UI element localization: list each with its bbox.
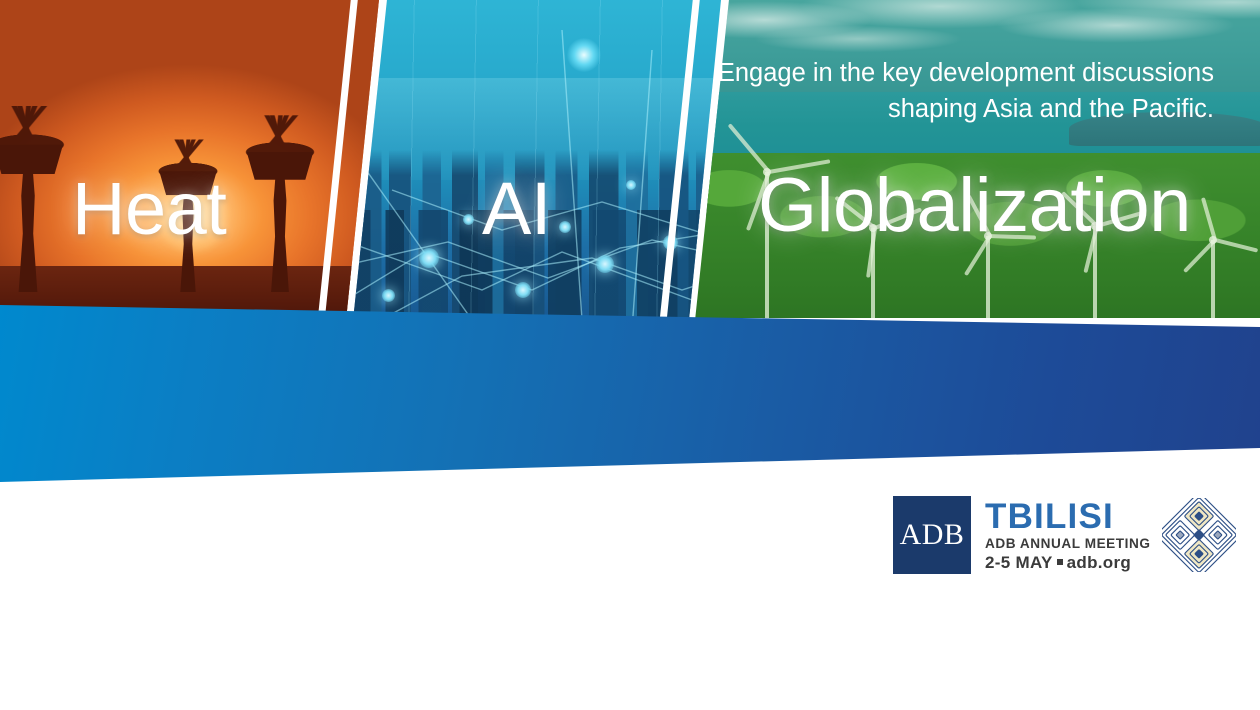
adb-tbilisi-logo[interactable]: ADB TBILISI ADB ANNUAL MEETING 2-5 MAYad…: [893, 489, 1213, 581]
turbine-mast: [1211, 240, 1215, 318]
logo-dates: 2-5 MAY: [985, 553, 1053, 572]
adb-logo-text: ADB: [900, 520, 965, 550]
logo-subtitle: ADB ANNUAL MEETING: [985, 537, 1150, 551]
adb-logo-mark: ADB: [893, 496, 971, 574]
straw-bundle-icon: [0, 106, 86, 150]
hero-panel-globalization[interactable]: [694, 0, 1260, 318]
logo-wordmark: TBILISI ADB ANNUAL MEETING 2-5 MAYadb.or…: [985, 499, 1150, 572]
panel-title-ai: AI: [482, 166, 551, 251]
globalization-panel-art: [694, 0, 1260, 318]
georgian-diamond-ornament-icon: [1162, 498, 1236, 572]
turbine-hub: [1209, 236, 1217, 244]
network-node: [419, 248, 439, 268]
separator-square-icon: [1057, 559, 1063, 565]
tagline-band: [0, 290, 1260, 500]
logo-website: adb.org: [1067, 553, 1131, 572]
tagline: Engage in the key development discussion…: [554, 55, 1214, 127]
network-node: [382, 289, 395, 302]
hero-strip: Heat AI Globalization: [0, 0, 1260, 318]
straw-bundle-icon: [225, 115, 335, 157]
banner-root: Heat AI Globalization Engage in the key …: [0, 0, 1260, 710]
tagline-line-2: shaping Asia and the Pacific.: [554, 91, 1214, 127]
logo-city-name: TBILISI: [985, 499, 1150, 534]
tagline-line-1: Engage in the key development discussion…: [554, 55, 1214, 91]
panel-title-globalization: Globalization: [758, 162, 1191, 249]
logo-date-website: 2-5 MAYadb.org: [985, 554, 1150, 571]
panel-title-heat: Heat: [72, 166, 226, 251]
wind-turbine-icon: [1186, 240, 1240, 318]
